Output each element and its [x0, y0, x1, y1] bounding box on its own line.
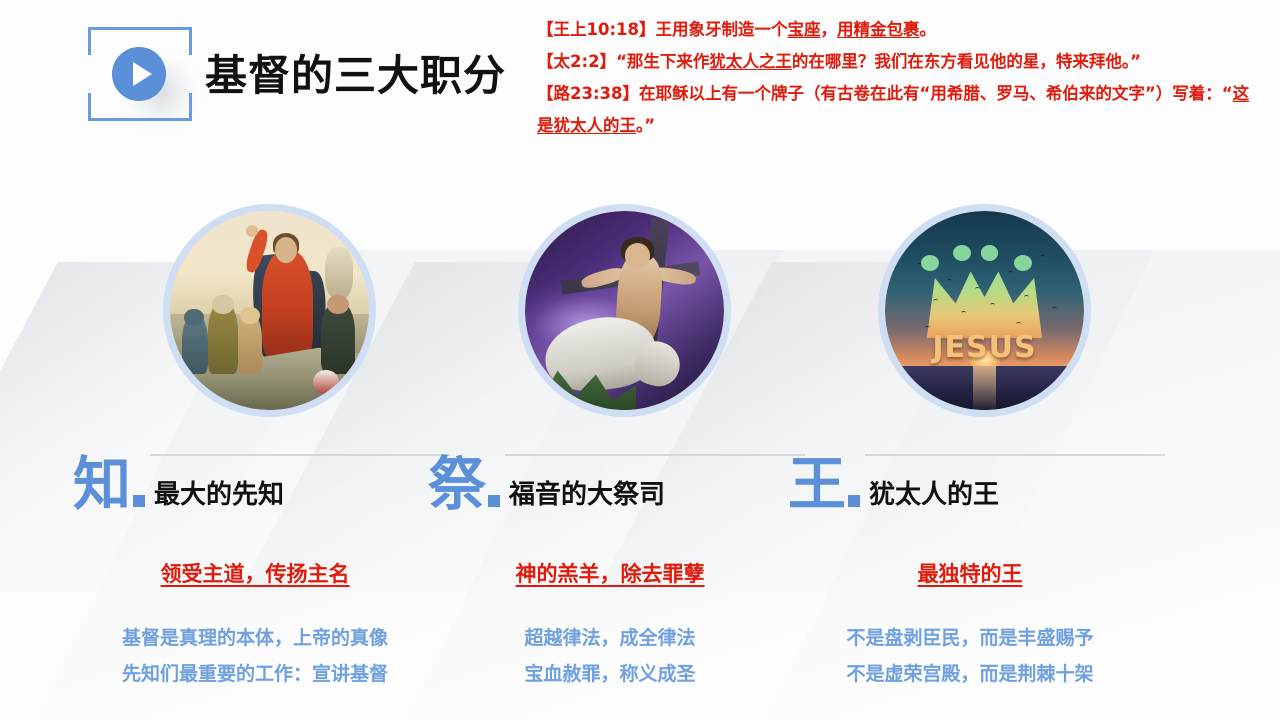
bird-icon — [990, 303, 995, 307]
sub-head-king: 犹太人的王 — [869, 482, 999, 513]
body-lines-priest: 超越律法，成全律法 宝血赦罪，称义成圣 — [400, 620, 820, 692]
bird-icon — [975, 287, 980, 291]
crown-knob-3 — [981, 245, 999, 261]
crown-illustration: JESUS — [885, 211, 1084, 410]
jesus-head — [625, 243, 651, 269]
column-king: JESUS 王 犹太人的王 最独特的王 不是盘剥臣民，而是丰盛赐予 不是虚荣宫殿… — [760, 0, 1180, 720]
jesus-teaching-photo — [163, 204, 376, 417]
bird-icon — [933, 299, 938, 303]
body-line-king-1: 不是盘剥臣民，而是丰盛赐予 — [760, 620, 1180, 656]
big-char-prophet: 知 — [73, 455, 131, 513]
jesus-wordmark: JESUS — [885, 330, 1084, 365]
body-line-priest-2: 宝血赦罪，称义成圣 — [400, 656, 820, 692]
crucifixion-lamb-photo — [518, 204, 731, 417]
big-dot-prophet — [133, 495, 145, 507]
jesus-hand — [246, 225, 258, 237]
red-emphasis-king: 最独特的王 — [760, 558, 1180, 588]
listener-turban — [313, 370, 339, 394]
big-char-priest: 祭 — [428, 455, 486, 513]
jesus-head — [275, 237, 297, 263]
big-dot-priest — [488, 495, 500, 507]
bird-icon — [961, 311, 966, 315]
listener-1-head — [184, 309, 204, 327]
sun-reflection — [973, 366, 997, 410]
bird-icon — [1040, 255, 1045, 259]
crown-knob-2 — [953, 245, 971, 261]
bird-icon — [947, 279, 952, 283]
column-priest: 祭 福音的大祭司 神的羔羊，除去罪孽 超越律法，成全律法 宝血赦罪，称义成圣 — [400, 0, 820, 720]
sub-head-priest: 福音的大祭司 — [509, 482, 665, 513]
bird-icon — [1024, 295, 1029, 299]
listener-3-head — [240, 307, 260, 325]
body-lines-king: 不是盘剥臣民，而是丰盛赐予 不是虚荣宫殿，而是荆棘十架 — [760, 620, 1180, 692]
sub-head-prophet: 最大的先知 — [154, 482, 284, 513]
body-line-priest-1: 超越律法，成全律法 — [400, 620, 820, 656]
big-dot-king — [848, 495, 860, 507]
bird-icon — [1052, 307, 1057, 311]
figure-back — [325, 247, 353, 299]
body-line-king-2: 不是虚荣宫殿，而是荆棘十架 — [760, 656, 1180, 692]
jesus-crown-photo: JESUS — [878, 204, 1091, 417]
crown-knob-1 — [921, 255, 939, 271]
listener-2-head — [212, 295, 234, 315]
column-heading-priest: 祭 福音的大祭司 — [428, 455, 665, 513]
teaching-illustration — [170, 211, 369, 410]
crown-knob-4 — [1014, 255, 1032, 271]
red-emphasis-priest: 神的羔羊，除去罪孽 — [400, 558, 820, 588]
slide-canvas: 基督的三大职分 【王上10:18】王用象牙制造一个宝座，用精金包裹。 【太2:2… — [0, 0, 1280, 720]
column-heading-king: 王 犹太人的王 — [788, 455, 999, 513]
bird-icon — [1008, 271, 1013, 275]
bird-icon — [1016, 322, 1021, 326]
big-char-king: 王 — [788, 455, 846, 513]
bird-icon — [917, 263, 922, 267]
jesus-robe — [262, 251, 314, 366]
column-heading-prophet: 知 最大的先知 — [73, 455, 284, 513]
crucifixion-illustration — [525, 211, 724, 410]
